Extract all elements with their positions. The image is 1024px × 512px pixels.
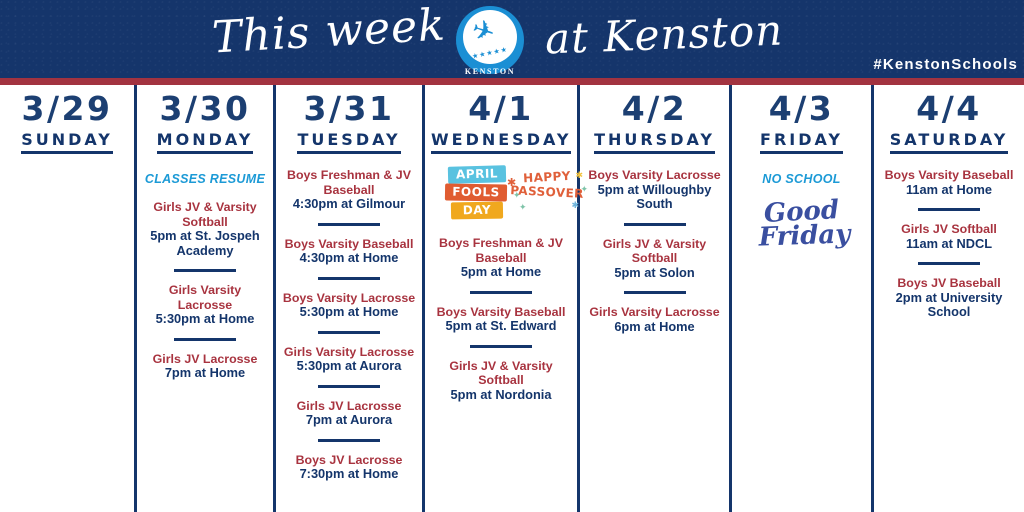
day-label: THURSDAY [594, 130, 715, 154]
day-label: MONDAY [157, 130, 254, 154]
week-grid: 3/29 SUNDAY 3/30 MONDAY CLASSES RESUME G… [0, 85, 1024, 512]
event-detail: 5:30pm at Aurora [282, 359, 416, 374]
event-title: Boys Varsity Baseball [431, 305, 571, 320]
event-list: Boys Freshman & JV Baseball 4:30pm at Gi… [282, 168, 416, 482]
event-item: Girls JV Softball 11am at NDCL [880, 222, 1018, 251]
event-separator [624, 291, 686, 294]
event-item: Girls JV Lacrosse 7pm at Aurora [282, 399, 416, 428]
event-item: Boys Varsity Baseball 5pm at St. Edward [431, 305, 571, 334]
event-list: Boys Varsity Lacrosse 5pm at Willoughby … [586, 168, 723, 334]
event-title: Boys Varsity Lacrosse [282, 291, 416, 306]
event-title: Girls JV Lacrosse [143, 352, 267, 367]
event-separator [318, 277, 380, 280]
good-friday-line2: Friday [744, 222, 866, 250]
event-item: Boys Varsity Baseball 4:30pm at Home [282, 237, 416, 266]
event-title: Boys Freshman & JV Baseball [282, 168, 416, 197]
event-separator [318, 223, 380, 226]
event-list: Boys Freshman & JV Baseball 5pm at Home … [431, 236, 571, 402]
event-item: Girls Varsity Lacrosse 5:30pm at Aurora [282, 345, 416, 374]
day-column-saturday: 4/4 SATURDAY Boys Varsity Baseball 11am … [874, 85, 1024, 512]
day-column-wednesday: 4/1 WEDNESDAY APRIL FOOLS DAY ✱ ✦ ✱ ✦ ✦ … [425, 85, 577, 512]
header-script-left: This week [211, 0, 447, 63]
event-detail: 5pm at Nordonia [431, 388, 571, 403]
day-column-monday: 3/30 MONDAY CLASSES RESUME Girls JV & Va… [137, 85, 273, 512]
event-item: Girls Varsity Lacrosse 6pm at Home [586, 305, 723, 334]
event-item: Boys Varsity Lacrosse 5pm at Willoughby … [586, 168, 723, 212]
event-item: Girls JV Lacrosse 7pm at Home [143, 352, 267, 381]
event-detail: 11am at NDCL [880, 237, 1018, 252]
event-separator [174, 338, 236, 341]
event-item: Girls JV & Varsity Softball 5pm at St. J… [143, 200, 267, 258]
event-item: Boys Freshman & JV Baseball 4:30pm at Gi… [282, 168, 416, 212]
event-separator [624, 223, 686, 226]
event-title: Boys JV Baseball [880, 276, 1018, 291]
event-title: Girls JV Softball [880, 222, 1018, 237]
event-detail: 5pm at St. Edward [431, 319, 571, 334]
weekly-schedule-graphic: This week ✈ ★★★★★ KENSTON at Kenston #Ke… [0, 0, 1024, 512]
event-separator [318, 331, 380, 334]
event-separator [918, 208, 980, 211]
event-detail: 2pm at University School [880, 291, 1018, 320]
day-label: WEDNESDAY [431, 130, 571, 154]
event-separator [470, 345, 532, 348]
event-title: Boys Varsity Baseball [880, 168, 1018, 183]
hashtag-label: #KenstonSchools [873, 56, 1018, 73]
event-detail: 5pm at Willoughby South [586, 183, 723, 212]
holiday-graphics: APRIL FOOLS DAY ✱ ✦ ✱ ✦ ✦ ✱ HAPPY PASSOV… [431, 166, 571, 222]
event-title: Girls Varsity Lacrosse [143, 283, 267, 312]
header-banner: This week ✈ ★★★★★ KENSTON at Kenston #Ke… [0, 0, 1024, 78]
event-separator [470, 291, 532, 294]
event-item: Boys Varsity Baseball 11am at Home [880, 168, 1018, 197]
day-column-thursday: 4/2 THURSDAY Boys Varsity Lacrosse 5pm a… [580, 85, 729, 512]
kenston-bomber-logo: ✈ ★★★★★ KENSTON [456, 6, 524, 74]
event-detail: 7:30pm at Home [282, 467, 416, 482]
day-date: 4/3 [738, 90, 865, 128]
day-column-tuesday: 3/31 TUESDAY Boys Freshman & JV Baseball… [276, 85, 422, 512]
event-separator [174, 269, 236, 272]
event-detail: 5pm at Home [431, 265, 571, 280]
event-item: Girls JV & Varsity Softball 5pm at Nordo… [431, 359, 571, 403]
event-item: Boys JV Baseball 2pm at University Schoo… [880, 276, 1018, 320]
event-detail: 4:30pm at Gilmour [282, 197, 416, 212]
april-fools-line2: FOOLS [445, 183, 507, 201]
logo-disc: ✈ ★★★★★ [463, 10, 517, 64]
event-separator [318, 385, 380, 388]
event-item: Girls Varsity Lacrosse 5:30pm at Home [143, 283, 267, 327]
event-detail: 5:30pm at Home [282, 305, 416, 320]
day-date: 4/4 [880, 90, 1018, 128]
event-detail: 4:30pm at Home [282, 251, 416, 266]
day-note: NO SCHOOL [738, 172, 865, 186]
day-column-sunday: 3/29 SUNDAY [0, 85, 134, 512]
event-title: Girls JV & Varsity Softball [586, 237, 723, 266]
event-title: Girls JV & Varsity Softball [143, 200, 267, 229]
event-separator [318, 439, 380, 442]
good-friday-graphic: Good Friday [738, 200, 865, 248]
april-fools-line1: APRIL [448, 165, 506, 184]
event-title: Girls Varsity Lacrosse [586, 305, 723, 320]
day-label: TUESDAY [297, 130, 400, 154]
april-fools-line3: DAY [451, 202, 503, 220]
event-title: Boys Varsity Baseball [282, 237, 416, 252]
event-list: Girls JV & Varsity Softball 5pm at St. J… [143, 200, 267, 381]
event-item: Boys Freshman & JV Baseball 5pm at Home [431, 236, 571, 280]
day-label: SUNDAY [21, 130, 113, 154]
header-script-right: at Kenston [544, 5, 784, 63]
event-title: Boys Freshman & JV Baseball [431, 236, 571, 265]
event-detail: 6pm at Home [586, 320, 723, 335]
airplane-icon: ✈ [468, 15, 498, 48]
event-detail: 7pm at Aurora [282, 413, 416, 428]
day-note: CLASSES RESUME [143, 172, 267, 186]
day-date: 3/31 [282, 90, 416, 128]
day-date: 4/1 [431, 90, 571, 128]
event-detail: 11am at Home [880, 183, 1018, 198]
event-title: Boys Varsity Lacrosse [586, 168, 723, 183]
event-item: Girls JV & Varsity Softball 5pm at Solon [586, 237, 723, 281]
leaf-icon: ✦ [519, 202, 527, 213]
happy-passover-badge: ✱ ✦ ✱ ✦ ✦ ✱ HAPPY PASSOVER [509, 170, 585, 200]
event-title: Girls Varsity Lacrosse [282, 345, 416, 360]
day-date: 3/29 [6, 90, 128, 128]
event-title: Boys JV Lacrosse [282, 453, 416, 468]
day-column-friday: 4/3 FRIDAY NO SCHOOL Good Friday [732, 85, 871, 512]
event-item: Boys Varsity Lacrosse 5:30pm at Home [282, 291, 416, 320]
day-label: FRIDAY [760, 130, 843, 154]
event-item: Boys JV Lacrosse 7:30pm at Home [282, 453, 416, 482]
logo-wordmark: KENSTON [456, 67, 524, 76]
day-date: 4/2 [586, 90, 723, 128]
april-fools-day-badge: APRIL FOOLS DAY [445, 166, 507, 220]
red-accent-bar [0, 78, 1024, 85]
event-detail: 5pm at St. Jospeh Academy [143, 229, 267, 258]
event-list: Boys Varsity Baseball 11am at Home Girls… [880, 168, 1018, 320]
event-title: Girls JV Lacrosse [282, 399, 416, 414]
event-separator [918, 262, 980, 265]
day-label: SATURDAY [890, 130, 1009, 154]
day-date: 3/30 [143, 90, 267, 128]
event-detail: 7pm at Home [143, 366, 267, 381]
event-detail: 5:30pm at Home [143, 312, 267, 327]
event-detail: 5pm at Solon [586, 266, 723, 281]
event-title: Girls JV & Varsity Softball [431, 359, 571, 388]
